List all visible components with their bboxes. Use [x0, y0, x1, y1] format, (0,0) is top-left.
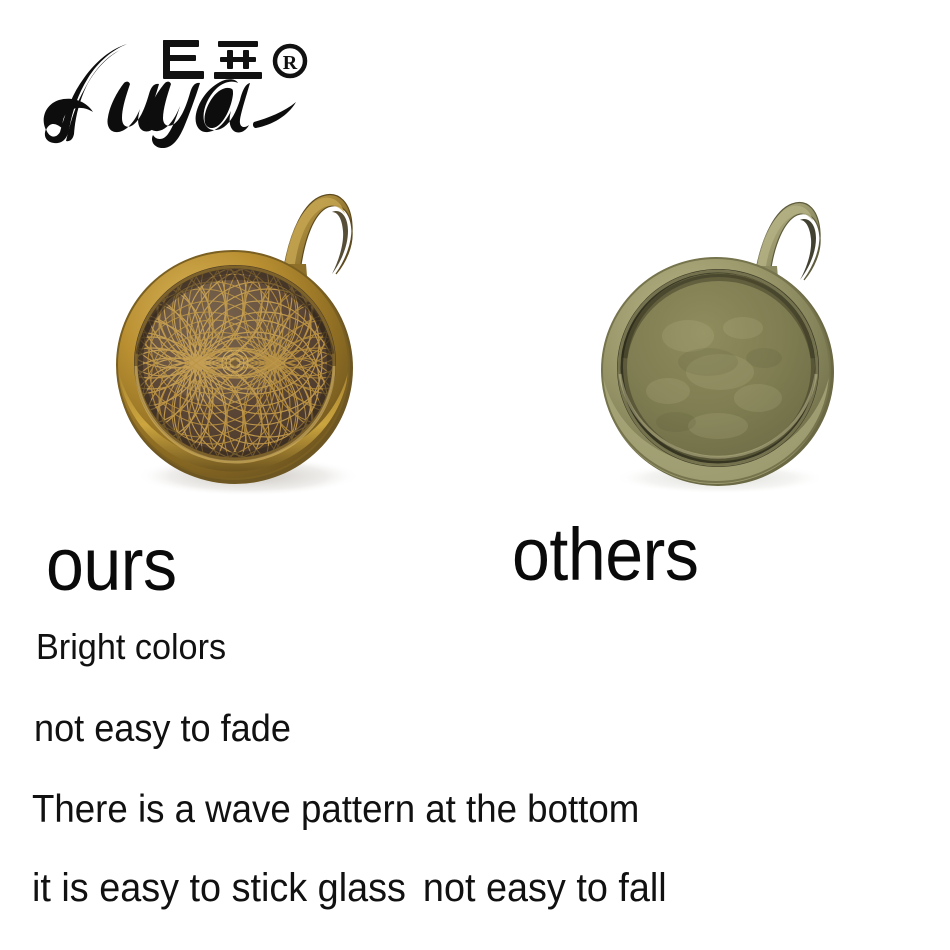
pendant-others — [568, 186, 858, 496]
feature-line-stick-glass-part-a: it is easy to stick glass — [32, 866, 406, 910]
feature-line-wave-pattern: There is a wave pattern at the bottom — [32, 788, 639, 832]
feature-line-bright-colors: Bright colors — [36, 626, 226, 668]
juya-logo-icon: R — [32, 26, 322, 148]
round-bezel-pendant-plain-icon — [568, 186, 858, 496]
label-ours: ours — [46, 528, 177, 602]
pendant-ours — [108, 176, 378, 496]
juya-logo: R — [32, 26, 322, 148]
feature-line-stick-glass: it is easy to stick glassnot easy to fal… — [32, 866, 667, 911]
registered-mark-icon: R — [275, 46, 305, 76]
round-bezel-pendant-with-wave-pattern-icon — [108, 176, 378, 496]
feature-line-stick-glass-part-b: not easy to fall — [423, 866, 667, 910]
feature-line-not-easy-to-fade: not easy to fade — [34, 708, 291, 751]
product-comparison-image: R — [0, 0, 950, 950]
label-others: others — [512, 518, 698, 592]
svg-text:R: R — [283, 52, 298, 74]
